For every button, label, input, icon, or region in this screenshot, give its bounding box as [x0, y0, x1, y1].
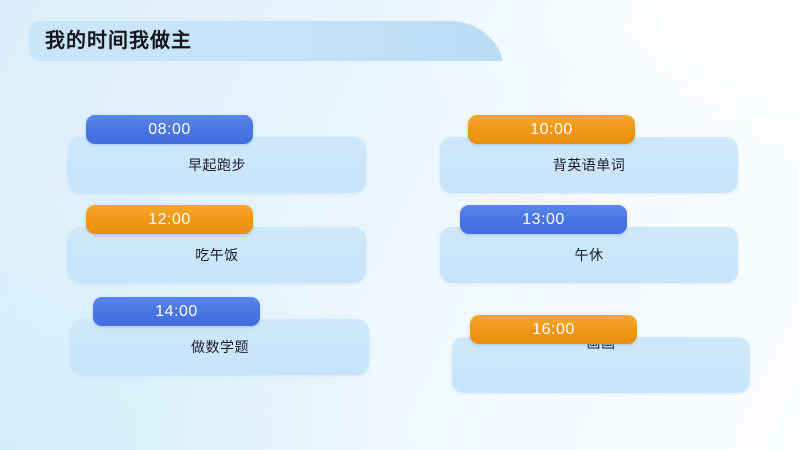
schedule-card-time-badge[interactable]: 12:00 [86, 205, 253, 234]
slide-canvas: 我的时间我做主 早起跑步 08:00 背英语单词 10:00 吃午饭 12:00… [0, 0, 799, 450]
title-banner: 我的时间我做主 [29, 21, 503, 61]
schedule-card-time-badge[interactable]: 16:00 [470, 315, 637, 344]
schedule-card-time-badge[interactable]: 10:00 [468, 115, 635, 144]
schedule-card-activity: 午休 [440, 227, 738, 283]
schedule-card-activity: 做数学题 [71, 319, 369, 375]
page-title: 我的时间我做主 [45, 21, 192, 61]
schedule-card-activity: 早起跑步 [68, 137, 366, 193]
schedule-card-activity: 背英语单词 [440, 137, 738, 193]
schedule-card-time-badge[interactable]: 13:00 [460, 205, 627, 234]
schedule-card-time-badge[interactable]: 14:00 [93, 297, 260, 326]
schedule-card-activity: 吃午饭 [68, 227, 366, 283]
schedule-card-time-badge[interactable]: 08:00 [86, 115, 253, 144]
